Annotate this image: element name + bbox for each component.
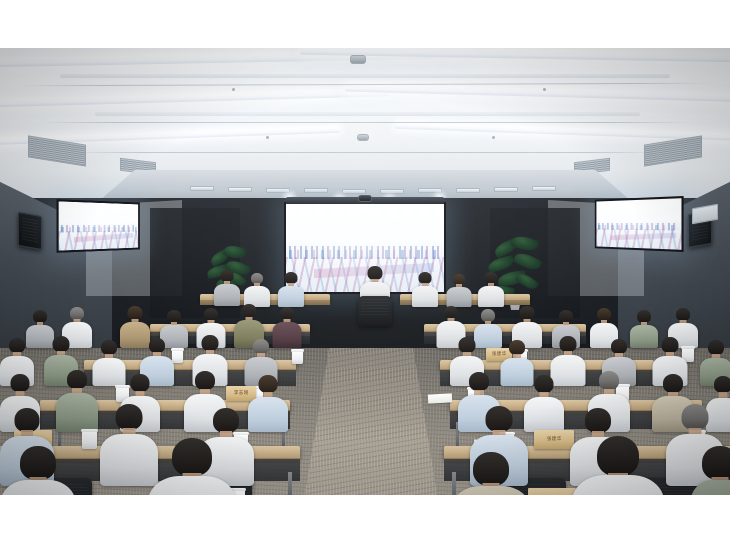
handout-paper <box>428 393 452 403</box>
person-torso <box>248 397 288 432</box>
ceiling-seam <box>40 122 690 123</box>
ceiling-sprinkler-icon <box>492 136 495 139</box>
person-head <box>702 446 730 480</box>
plant-leaf <box>515 271 539 293</box>
person-head <box>714 376 730 393</box>
person-head <box>253 339 269 354</box>
person-head <box>11 374 30 392</box>
chair-presenter <box>358 296 392 326</box>
attendee <box>412 272 438 307</box>
ceiling-led-strip <box>0 88 390 108</box>
soffit-slot <box>342 189 366 194</box>
person-torso <box>452 486 530 495</box>
right-side-display <box>595 196 684 252</box>
person-head <box>520 306 535 320</box>
person-head <box>195 371 215 390</box>
name-placard-text: 张建华 <box>547 437 562 442</box>
soffit-slot <box>494 187 518 192</box>
display-city-texture <box>596 228 681 249</box>
conference-camera-icon <box>358 195 372 202</box>
name-placard: 张建华 <box>534 430 574 449</box>
soffit-slot <box>266 188 290 193</box>
conference-room-photo: 张建华 <box>0 48 730 495</box>
left-display-content <box>59 201 138 250</box>
plant-leaf <box>511 233 540 253</box>
person-torso <box>478 286 504 307</box>
attendee-foreground <box>572 436 664 495</box>
person-head <box>67 370 87 389</box>
person-head <box>201 335 218 351</box>
attendee-foreground <box>0 446 76 495</box>
person-torso <box>524 397 564 432</box>
person-head <box>597 436 639 476</box>
person-torso <box>148 476 236 495</box>
attendee-foreground <box>148 438 236 495</box>
right-display-content <box>596 198 681 250</box>
ceiling-sprinkler-icon <box>543 88 546 91</box>
person-head <box>368 266 383 280</box>
attendee <box>278 272 304 307</box>
soffit-slot <box>304 188 328 193</box>
person-head <box>9 338 25 353</box>
person-head <box>599 371 619 390</box>
person-head <box>459 337 476 353</box>
attendee-foreground <box>452 452 530 495</box>
person-head <box>661 337 678 353</box>
screenshot-root: 张建华 <box>0 0 730 548</box>
attendee <box>524 375 564 432</box>
person-head <box>535 375 554 393</box>
soffit-slot <box>380 189 404 194</box>
person-head <box>128 306 143 320</box>
desk-leg <box>288 472 292 495</box>
person-torso <box>412 286 438 307</box>
person-torso <box>572 475 664 495</box>
person-head <box>259 375 278 393</box>
person-head <box>585 408 611 433</box>
ceiling-led-strip <box>345 84 730 103</box>
person-head <box>473 452 509 486</box>
person-torso <box>278 286 304 307</box>
person-head <box>611 339 627 354</box>
teacup <box>292 351 303 364</box>
smoke-detector-icon <box>350 55 366 64</box>
plant-leaf <box>513 250 543 274</box>
person-head <box>116 404 143 430</box>
ceiling-trim <box>60 74 670 78</box>
name-placard: 李志刚 <box>528 488 576 495</box>
soffit-slot <box>418 188 442 193</box>
smoke-detector-icon <box>357 134 369 141</box>
name-placard-text: 李志刚 <box>234 391 249 396</box>
person-torso <box>56 393 98 432</box>
person-torso <box>0 480 76 495</box>
plant-leaf <box>487 255 515 273</box>
attendee-foreground <box>690 446 730 495</box>
soffit-slot <box>228 187 252 192</box>
person-head <box>213 408 239 433</box>
ceiling-air-vent <box>644 135 702 166</box>
person-head <box>149 338 165 353</box>
person-head <box>708 340 724 355</box>
left-side-display <box>57 199 140 253</box>
person-head <box>242 304 257 318</box>
person-head <box>559 336 576 352</box>
person-torso <box>214 284 240 306</box>
person-torso <box>446 287 471 307</box>
person-head <box>682 404 709 430</box>
ceiling-sprinkler-icon <box>266 136 269 139</box>
attendee <box>478 272 504 307</box>
person-head <box>509 340 525 355</box>
ceiling-trim <box>95 112 640 116</box>
attendee <box>214 270 240 306</box>
attendee <box>248 375 288 432</box>
person-head <box>663 374 683 393</box>
ceiling-seam <box>70 152 660 153</box>
person-head <box>53 336 70 352</box>
soffit-slot <box>190 186 214 191</box>
soffit-slot <box>532 186 556 191</box>
attendee <box>244 273 270 307</box>
person-head <box>101 340 117 355</box>
person-head <box>469 372 489 391</box>
person-head <box>15 408 40 432</box>
attendee <box>446 274 471 307</box>
attendee <box>56 370 98 432</box>
person-torso <box>690 480 730 495</box>
person-head <box>20 446 56 480</box>
person-head <box>486 406 513 432</box>
person-head <box>131 374 150 392</box>
left-wall-speaker <box>18 212 42 250</box>
teacup <box>82 431 97 449</box>
soffit-slot <box>456 188 480 193</box>
ceiling-sprinkler-icon <box>232 88 235 91</box>
person-head <box>172 438 212 476</box>
